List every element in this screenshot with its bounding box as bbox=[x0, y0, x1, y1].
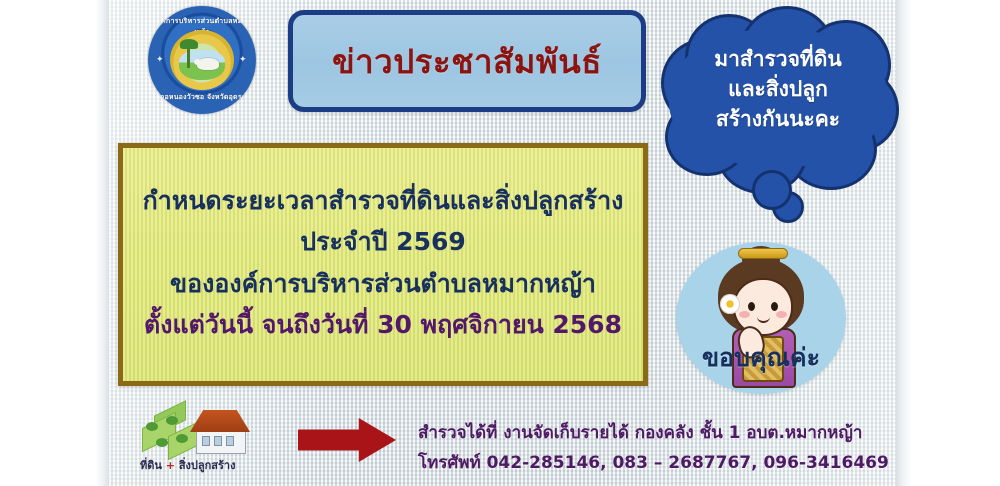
announcement-poster: องค์การบริหารส่วนตำบลหมากหญ้า ✦ ✦ อำเภอห… bbox=[0, 0, 1000, 486]
bush-icon-3 bbox=[176, 434, 188, 443]
page-title: ข่าวประชาสัมพันธ์ bbox=[332, 35, 602, 88]
logo-star-left-icon: ✦ bbox=[156, 56, 165, 65]
announcement-line-3: ขององค์การบริหารส่วนตำบลหมากหญ้า bbox=[133, 269, 633, 299]
bush-icon-1 bbox=[146, 422, 158, 431]
logo-cow-icon bbox=[197, 58, 219, 70]
mascot-eye-left bbox=[748, 302, 755, 311]
house-window-2 bbox=[214, 436, 222, 446]
mascot-smile bbox=[757, 314, 770, 323]
announcement-line-2: ประจำปี 2569 bbox=[133, 227, 633, 257]
logo-emblem bbox=[170, 30, 234, 90]
mascot-cheek-right bbox=[776, 311, 787, 318]
land-caption-prefix: ที่ดิน bbox=[140, 459, 162, 472]
mascot-cheek-left bbox=[739, 311, 750, 318]
house-roof bbox=[190, 410, 250, 432]
logo-ring-text-bottom: อำเภอหนองวัวซอ จังหวัดอุดรธานี bbox=[148, 92, 256, 103]
land-caption-plus: + bbox=[166, 459, 175, 472]
mascot-eye-right bbox=[771, 302, 778, 311]
thought-bubble: มาสำรวจที่ดิน และสิ่งปลูก สร้างกันนะคะ bbox=[655, 6, 905, 216]
contact-phone-line: โทรศัพท์ 042-285146, 083 – 2687767, 096-… bbox=[418, 448, 888, 478]
land-caption-suffix: สิ่งปลูกสร้าง bbox=[179, 459, 236, 472]
land-and-building-icon bbox=[140, 404, 252, 458]
contact-location-line: สำรวจได้ที่ งานจัดเก็บรายได้ กองคลัง ชั้… bbox=[418, 418, 888, 448]
logo-palm-leaves bbox=[180, 39, 198, 49]
bubble-text-line-1: มาสำรวจที่ดิน bbox=[673, 44, 883, 74]
organization-logo: องค์การบริหารส่วนตำบลหมากหญ้า ✦ ✦ อำเภอห… bbox=[148, 6, 256, 114]
announcement-deadline: ตั้งแต่วันนี้ จนถึงวันที่ 30 พฤศจิกายน 2… bbox=[133, 310, 633, 340]
logo-star-right-icon: ✦ bbox=[239, 56, 248, 65]
mascot-gold-crown bbox=[738, 248, 788, 259]
bubble-text-line-2: และสิ่งปลูก bbox=[673, 74, 883, 104]
thai-girl-mascot: ขอบคุณค่ะ bbox=[676, 242, 846, 394]
headline-box: ข่าวประชาสัมพันธ์ bbox=[288, 10, 646, 112]
mascot-face bbox=[733, 278, 793, 336]
screen-left-edge bbox=[95, 0, 109, 486]
house-window-1 bbox=[202, 436, 210, 446]
bush-icon-2 bbox=[166, 416, 178, 425]
mascot-thanks-text: ขอบคุณค่ะ bbox=[676, 338, 846, 378]
mascot-flower-icon bbox=[720, 294, 740, 314]
announcement-line-1: กำหนดระยะเวลาสำรวจที่ดินและสิ่งปลูกสร้าง bbox=[133, 186, 633, 216]
house-window-3 bbox=[226, 436, 234, 446]
bubble-text: มาสำรวจที่ดิน และสิ่งปลูก สร้างกันนะคะ bbox=[673, 44, 883, 134]
announcement-panel: กำหนดระยะเวลาสำรวจที่ดินและสิ่งปลูกสร้าง… bbox=[118, 143, 648, 386]
bubble-tail-large bbox=[752, 170, 792, 210]
land-icon-caption: ที่ดิน + สิ่งปลูกสร้าง bbox=[140, 456, 270, 474]
bush-icon-4 bbox=[156, 438, 168, 447]
bubble-text-line-3: สร้างกันนะคะ bbox=[673, 104, 883, 134]
contact-info: สำรวจได้ที่ งานจัดเก็บรายได้ กองคลัง ชั้… bbox=[418, 418, 888, 478]
